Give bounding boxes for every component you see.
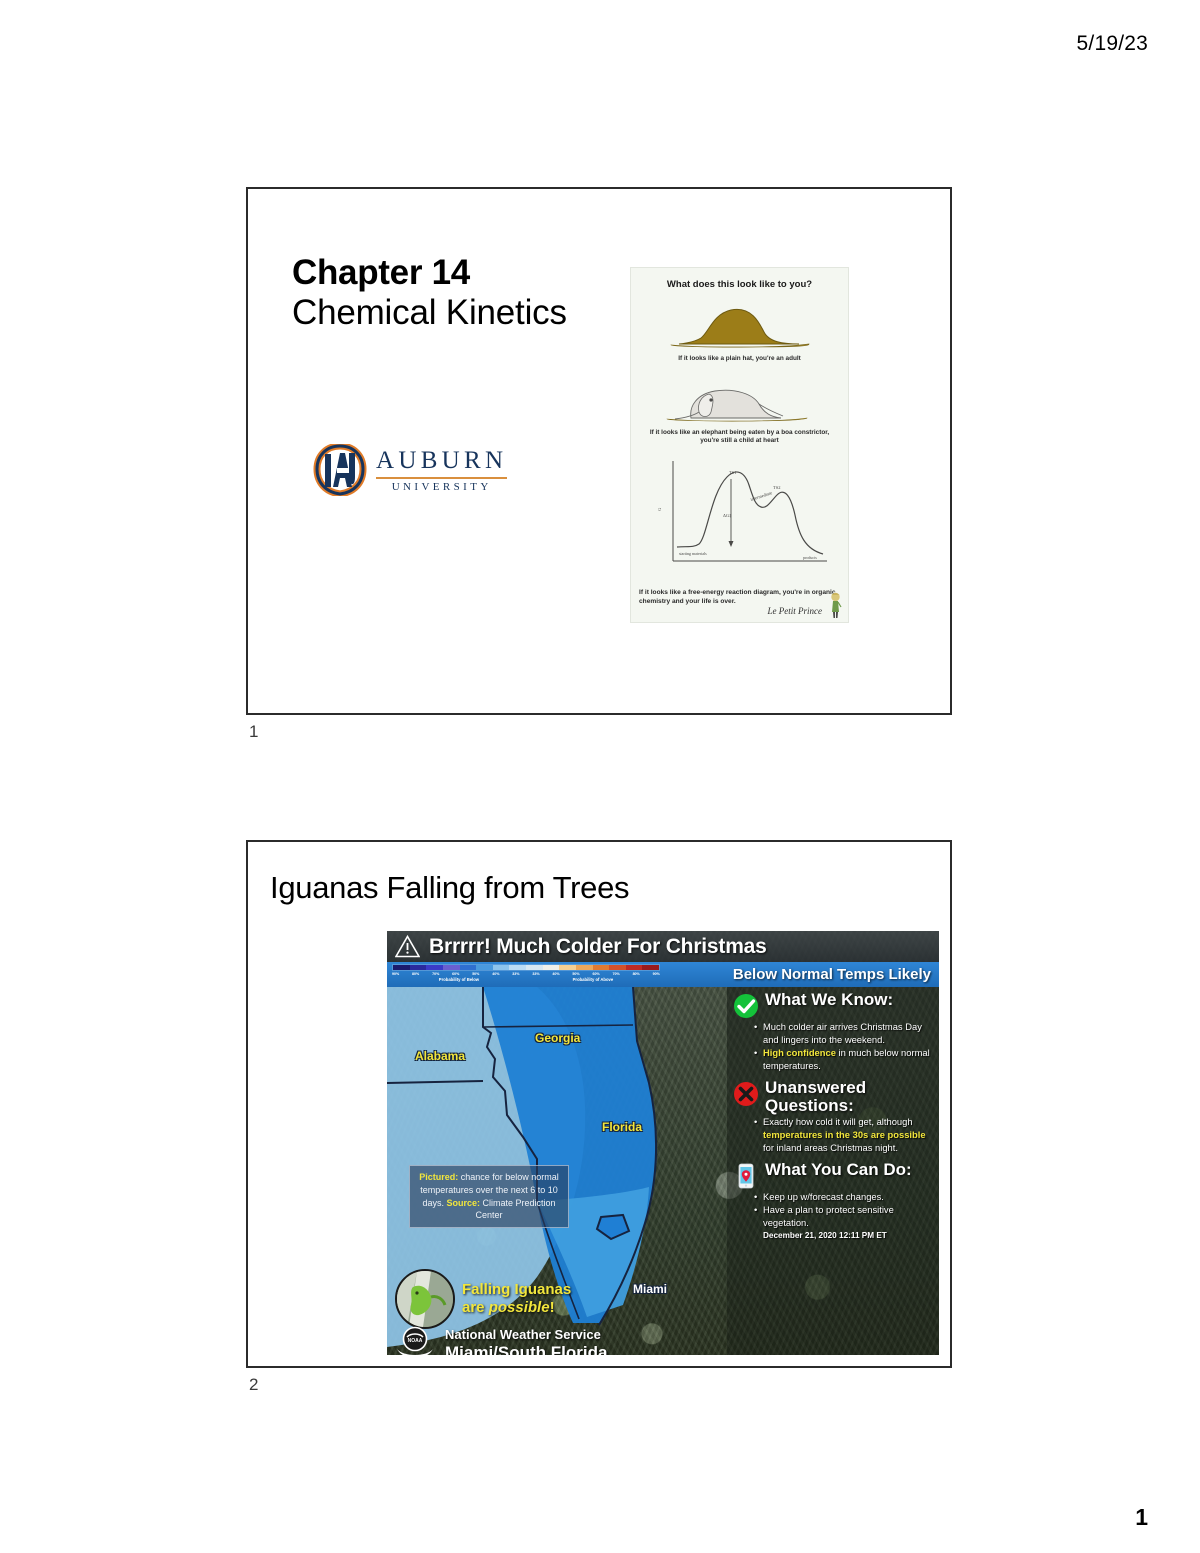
- scale-tick: 33%: [512, 972, 519, 976]
- section-header: What You Can Do:: [733, 1161, 933, 1189]
- slide-number-1: 1: [249, 722, 258, 742]
- auburn-wordmark: AUBURN UNIVERSITY: [376, 448, 507, 493]
- scale-tick: 50%: [472, 972, 479, 976]
- free-energy-reaction-diagram: TS1 TS2 intermediate ΔG‡ starting materi…: [631, 449, 848, 584]
- scale-label-above: Probability of Above: [573, 977, 614, 982]
- iguana-line-2-prefix: are: [462, 1299, 489, 1316]
- bullet-highlight: High confidence: [763, 1047, 836, 1058]
- info-box-source-text: Climate Prediction Center: [475, 1198, 555, 1221]
- scale-label-below: Probability of Below: [439, 977, 479, 982]
- scale-tick: 60%: [452, 972, 459, 976]
- color-scale-ticks: 90% 80% 70% 60% 50% 40% 33% 33% 40% 50% …: [392, 972, 660, 976]
- iguana-line-2-emphasis: possible: [489, 1299, 550, 1316]
- scale-tick: 50%: [572, 972, 579, 976]
- map-label-georgia: Georgia: [535, 1031, 580, 1045]
- section-title: What We Know:: [765, 991, 893, 1009]
- info-box-pictured-label: Pictured:: [419, 1172, 458, 1182]
- scale-tick: 40%: [492, 972, 499, 976]
- bullet-highlight: temperatures in the 30s are possible: [763, 1129, 926, 1140]
- map-info-box: Pictured: chance for below normal temper…: [409, 1165, 569, 1228]
- auburn-university-logo: AUBURN UNIVERSITY: [313, 444, 507, 496]
- bullet-item: Much colder air arrives Christmas Day an…: [763, 1021, 933, 1046]
- iguana-line-1: Falling Iguanas: [462, 1281, 571, 1299]
- section-title: Unanswered Questions:: [765, 1079, 933, 1115]
- slide-2-title: Iguanas Falling from Trees: [270, 870, 629, 906]
- forecast-map: Alabama Georgia Florida Miami Pictured: …: [387, 987, 727, 1355]
- slide-1-title-block: Chapter 14 Chemical Kinetics: [292, 254, 567, 332]
- weather-forecast-graphic: Brrrrr! Much Colder For Christmas Below …: [387, 931, 939, 1355]
- slide-1-title-sub: Chemical Kinetics: [292, 294, 567, 332]
- svg-text:TS1: TS1: [729, 470, 737, 475]
- cartoon-caption-diagram: If it looks like a free-energy reaction …: [631, 588, 848, 607]
- scale-tick: 33%: [532, 972, 539, 976]
- svg-text:TS2: TS2: [773, 485, 781, 490]
- section-what-you-can-do: What You Can Do: Keep up w/forecast chan…: [733, 1161, 933, 1240]
- iguana-photo-icon: [395, 1269, 455, 1329]
- bullet-text: for inland areas Christmas night.: [763, 1142, 898, 1153]
- scale-tick: 60%: [592, 972, 599, 976]
- section-bullets: Much colder air arrives Christmas Day an…: [733, 1021, 933, 1073]
- iguana-callout-text: Falling Iguanas are possible!: [462, 1281, 571, 1316]
- iguana-line-2: are possible!: [462, 1299, 571, 1317]
- cartoon-signature: Le Petit Prince: [768, 606, 822, 616]
- cartoon-caption-elephant: If it looks like an elephant being eaten…: [631, 429, 848, 446]
- section-header: What We Know:: [733, 991, 933, 1019]
- graphic-timestamp: December 21, 2020 12:11 PM ET: [733, 1231, 933, 1240]
- section-unanswered-questions: Unanswered Questions: Exactly how cold i…: [733, 1079, 933, 1155]
- info-box-source-label: Source:: [446, 1198, 480, 1208]
- elephant-drawing: [631, 372, 848, 424]
- svg-text:NOAA: NOAA: [408, 1338, 423, 1344]
- auburn-name: AUBURN: [376, 448, 507, 473]
- agency-name: National Weather Service Miami/South Flo…: [445, 1328, 607, 1355]
- map-label-alabama: Alabama: [415, 1049, 465, 1063]
- auburn-au-monogram-icon: [313, 444, 367, 496]
- bullet-item: Exactly how cold it will get, although t…: [763, 1116, 933, 1154]
- auburn-rule: [376, 477, 507, 479]
- bullet-item: Have a plan to protect sensitive vegetat…: [763, 1204, 933, 1229]
- handout-page: 5/19/23 Chapter 14 Chemical Kinetics AUB: [0, 0, 1200, 1553]
- section-header: Unanswered Questions:: [733, 1079, 933, 1115]
- slide-1-title-main: Chapter 14: [292, 254, 567, 292]
- x-circle-icon: [733, 1081, 759, 1107]
- scale-tick: 90%: [392, 972, 399, 976]
- petit-prince-cartoon: What does this look like to you? If it l…: [630, 267, 849, 623]
- noaa-logo-icon: NOAA: [393, 1325, 437, 1355]
- scale-tick: 70%: [613, 972, 620, 976]
- auburn-subtitle: UNIVERSITY: [376, 482, 507, 493]
- color-scale-labels: Probability of Below Probability of Abov…: [392, 977, 660, 982]
- bullet-item: Keep up w/forecast changes.: [763, 1191, 933, 1204]
- svg-text:products: products: [803, 555, 817, 560]
- section-bullets: Exactly how cold it will get, although t…: [733, 1116, 933, 1154]
- color-scale-bar: [392, 964, 660, 971]
- scale-tick: 80%: [633, 972, 640, 976]
- agency-line-1: National Weather Service: [445, 1328, 607, 1343]
- scale-tick: 40%: [552, 972, 559, 976]
- page-number: 1: [1135, 1504, 1148, 1531]
- little-prince-figure-icon: [829, 591, 842, 619]
- cartoon-question: What does this look like to you?: [631, 279, 848, 290]
- svg-text:intermediate: intermediate: [750, 490, 773, 502]
- iguana-line-2-suffix: !: [550, 1299, 555, 1316]
- bullet-pre: Exactly how cold it will get, although: [763, 1116, 913, 1127]
- warning-triangle-icon: [395, 935, 420, 958]
- map-label-miami: Miami: [633, 1282, 667, 1296]
- hat-drawing: [631, 298, 848, 350]
- agency-line-2: Miami/South Florida: [445, 1343, 607, 1355]
- scale-tick: 80%: [412, 972, 419, 976]
- scale-tick: 90%: [653, 972, 660, 976]
- agency-branding: NOAA National Weather Service Miami/Sout…: [393, 1325, 607, 1355]
- graphic-header: Brrrrr! Much Colder For Christmas: [387, 931, 939, 962]
- section-bullets: Keep up w/forecast changes. Have a plan …: [733, 1191, 933, 1230]
- svg-text:starting materials: starting materials: [679, 551, 707, 556]
- check-circle-icon: [733, 993, 759, 1019]
- probability-color-scale: 90% 80% 70% 60% 50% 40% 33% 33% 40% 50% …: [392, 964, 660, 982]
- graphic-headline: Brrrrr! Much Colder For Christmas: [429, 935, 767, 959]
- falling-iguanas-callout: Falling Iguanas are possible!: [395, 1269, 571, 1329]
- section-what-we-know: What We Know: Much colder air arrives Ch…: [733, 991, 933, 1073]
- section-title: What You Can Do:: [765, 1161, 912, 1179]
- slide-2: Iguanas Falling from Trees Brrrrr! Much …: [246, 840, 952, 1368]
- graphic-subheadline: Below Normal Temps Likely: [733, 966, 931, 983]
- forecast-info-panel: What We Know: Much colder air arrives Ch…: [727, 987, 939, 1355]
- phone-pin-icon: [733, 1163, 759, 1189]
- slide-number-2: 2: [249, 1375, 258, 1395]
- document-date: 5/19/23: [1077, 32, 1148, 56]
- svg-text:G: G: [657, 507, 662, 511]
- map-label-florida: Florida: [602, 1120, 642, 1134]
- cartoon-caption-hat: If it looks like a plain hat, you're an …: [631, 355, 848, 364]
- scale-tick: 70%: [432, 972, 439, 976]
- slide-1: Chapter 14 Chemical Kinetics AUBURN UNIV…: [246, 187, 952, 715]
- bullet-item: High confidence in much below normal tem…: [763, 1047, 933, 1072]
- svg-text:ΔG‡: ΔG‡: [723, 513, 732, 518]
